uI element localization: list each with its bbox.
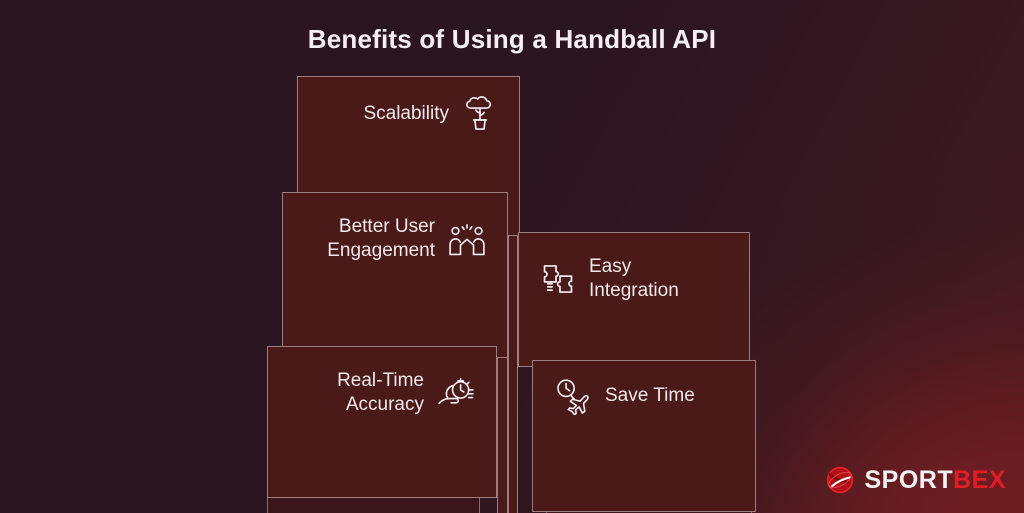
benefit-label-integration: Easy Integration (589, 255, 679, 304)
sportbex-swoosh-icon (825, 465, 855, 495)
sportbex-logo[interactable]: SPORTBEX (825, 465, 1006, 495)
column-connector-back (508, 232, 518, 513)
puzzle-pieces-icon (539, 260, 577, 298)
page-title: Benefits of Using a Handball API (0, 24, 1024, 55)
benefit-label-scalability: Scalability (363, 102, 449, 126)
benefit-label-realtime: Real-Time Accuracy (337, 369, 424, 418)
benefit-card-realtime[interactable]: Real-Time Accuracy (267, 346, 497, 498)
clock-airplane-icon (553, 377, 593, 415)
benefit-label-savetime: Save Time (605, 384, 695, 408)
column-connector-front (497, 346, 508, 513)
people-celebrating-icon (447, 220, 487, 258)
benefit-card-savetime[interactable]: Save Time (532, 360, 756, 512)
benefit-card-integration[interactable]: Easy Integration (518, 232, 750, 367)
hand-stopwatch-icon (436, 374, 476, 412)
benefit-card-engagement[interactable]: Better User Engagement (282, 192, 508, 358)
logo-text-bex: BEX (953, 466, 1006, 494)
potted-plant-icon (461, 95, 499, 133)
benefit-label-engagement: Better User Engagement (327, 215, 435, 264)
logo-text-sport: SPORT (864, 466, 953, 494)
logo-wordmark: SPORTBEX (864, 468, 1006, 493)
infographic-canvas: Benefits of Using a Handball API Scalabi… (0, 0, 1024, 513)
